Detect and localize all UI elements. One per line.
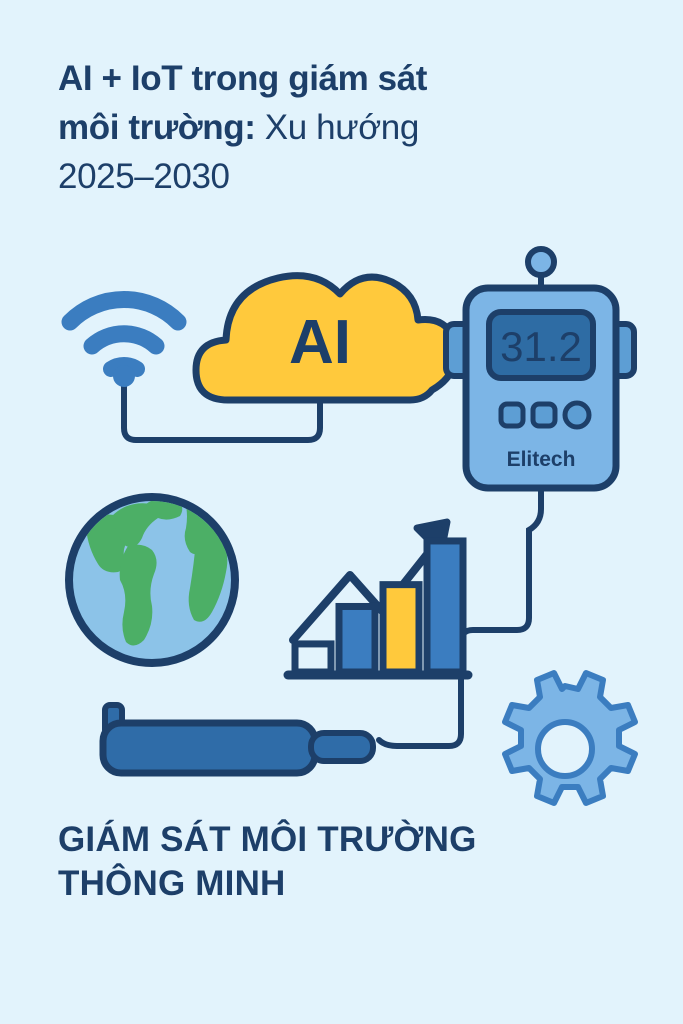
title-line-1-text: AI + IoT trong giám sát (58, 59, 427, 98)
infographic-poster: AI + IoT trong giám sát môi trường: Xu h… (0, 0, 683, 1024)
bar-4 (427, 541, 463, 672)
caption-line-2: THÔNG MINH (58, 862, 658, 906)
illustration-area: AI 31.2 Elitech (0, 228, 683, 808)
device-button-2 (533, 404, 555, 426)
bar-3 (383, 585, 419, 672)
page-title: AI + IoT trong giám sát môi trường: Xu h… (58, 54, 618, 201)
bottom-caption: GIÁM SÁT MÔI TRƯỜNG THÔNG MINH (58, 818, 658, 906)
cloud-ai-label: AI (289, 308, 351, 377)
wifi-icon (70, 299, 178, 387)
bar-chart (288, 522, 468, 675)
globe-icon (69, 497, 241, 663)
device-button-1 (501, 404, 523, 426)
title-line-2: môi trường: Xu hướng (58, 103, 618, 152)
gear-center-hole (538, 722, 592, 776)
title-line-2-regular-text: Xu hướng (265, 108, 419, 147)
sensor-probe-icon (103, 705, 373, 773)
device-button-3 (565, 403, 589, 427)
device-brand-label: Elitech (507, 448, 576, 471)
bar-2 (339, 606, 375, 672)
title-line-3-text: 2025–2030 (58, 157, 230, 196)
handheld-meter-icon[interactable]: 31.2 Elitech (446, 249, 634, 488)
caption-line-1: GIÁM SÁT MÔI TRƯỜNG (58, 818, 658, 862)
title-line-2-bold-text: môi trường: (58, 108, 255, 147)
device-display-value: 31.2 (500, 323, 582, 370)
title-line-1: AI + IoT trong giám sát (58, 54, 618, 103)
title-line-3: 2025–2030 (58, 152, 618, 201)
antenna-tip-icon (528, 249, 554, 275)
probe-tip (311, 733, 373, 761)
probe-body (103, 723, 315, 773)
gear-icon (505, 673, 635, 803)
bar-1 (295, 644, 331, 672)
cloud-icon: AI (196, 276, 456, 400)
